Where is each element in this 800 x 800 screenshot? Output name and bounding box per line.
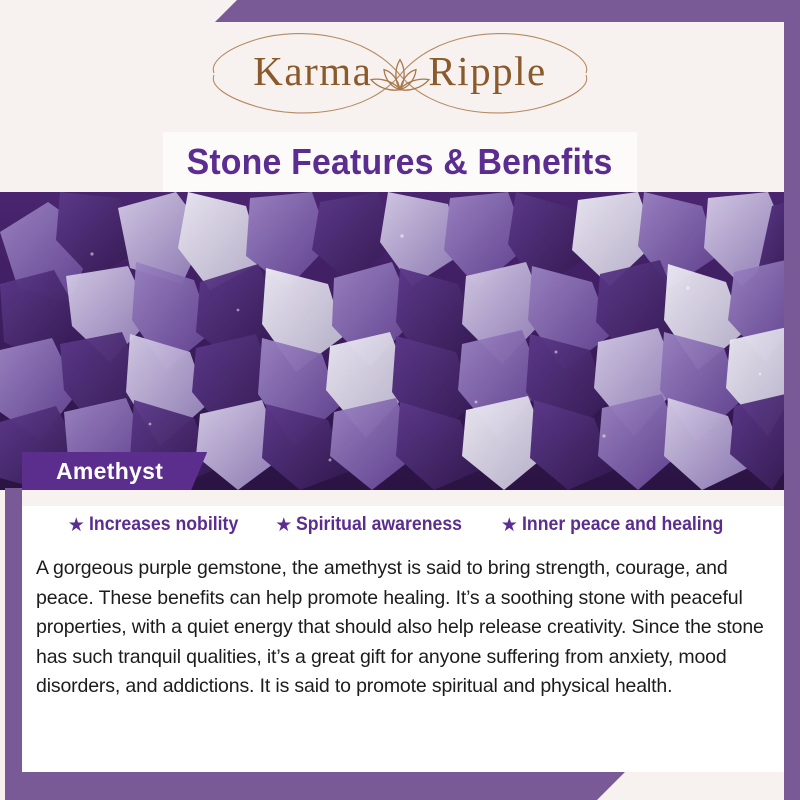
star-icon: ★ bbox=[68, 516, 85, 535]
panel-top-strip bbox=[22, 490, 784, 506]
feature-label-3: Inner peace and healing bbox=[522, 514, 723, 536]
feature-item-2: ★ Spiritual awareness bbox=[275, 514, 475, 536]
stone-name-label: Amethyst bbox=[56, 458, 163, 485]
lotus-icon bbox=[366, 52, 434, 96]
frame-accent-right bbox=[784, 0, 800, 800]
amethyst-crystal-cluster-photo bbox=[0, 192, 800, 490]
feature-item-1: ★ Increases nobility bbox=[68, 514, 250, 536]
stone-details-panel: ★ Increases nobility ★ Spiritual awarene… bbox=[22, 490, 784, 772]
star-icon: ★ bbox=[275, 516, 292, 535]
stone-description: A gorgeous purple gemstone, the amethyst… bbox=[36, 554, 780, 702]
feature-label-2: Spiritual awareness bbox=[296, 514, 462, 536]
product-info-card: Karma Ripple Stone Features & Benefits bbox=[0, 0, 800, 800]
brand-name-left: Karma bbox=[253, 47, 372, 95]
brand-logo: Karma Ripple bbox=[180, 23, 620, 119]
frame-accent-left bbox=[5, 488, 22, 800]
feature-item-3: ★ Inner peace and healing bbox=[501, 514, 739, 536]
frame-accent-top bbox=[215, 0, 800, 22]
feature-list: ★ Increases nobility ★ Spiritual awarene… bbox=[22, 514, 784, 536]
feature-label-1: Increases nobility bbox=[89, 514, 238, 536]
star-icon: ★ bbox=[501, 516, 518, 535]
frame-accent-bottom bbox=[5, 772, 625, 800]
page-title: Stone Features & Benefits bbox=[187, 141, 613, 183]
brand-name-right: Ripple bbox=[428, 47, 546, 95]
section-title-panel: Stone Features & Benefits bbox=[163, 132, 637, 192]
stone-name-banner: Amethyst bbox=[22, 452, 207, 490]
